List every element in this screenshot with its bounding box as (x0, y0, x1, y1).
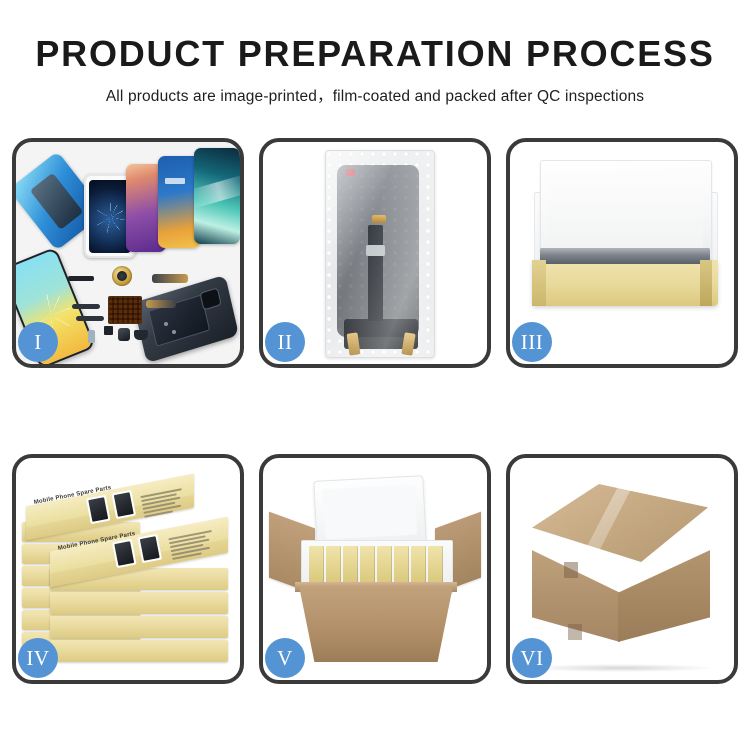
process-step-phone-screens-and-parts: I (12, 138, 244, 368)
process-step-carton-with-boxes: V (259, 454, 491, 684)
part-small-chip (104, 326, 113, 335)
retail-box-slot (428, 546, 443, 586)
spare-parts-cluster (68, 260, 196, 356)
part-screw-a (164, 322, 168, 326)
part-cable-a (72, 304, 100, 309)
box-print-screen-image (86, 495, 111, 524)
step-badge-6: VI (512, 638, 552, 678)
label-sticker (346, 169, 355, 176)
process-step-single-box-with-foam: III (506, 138, 738, 368)
carton-shadow (528, 664, 714, 672)
page-subtitle: All products are image-printed，film-coat… (0, 84, 750, 106)
flex-ribbon-cable (368, 225, 383, 321)
header: PRODUCT PREPARATION PROCESS All products… (0, 0, 750, 106)
step-badge-2: II (265, 322, 305, 362)
retail-box-slot (377, 546, 392, 586)
retail-box-side-left (532, 260, 546, 306)
stacked-box (50, 640, 228, 662)
retail-box-slot (394, 546, 409, 586)
carton-hand-hole-lower (568, 624, 582, 640)
retail-box-stack: Mobile Phone Spare Parts Mobile Phone Sp… (22, 472, 234, 670)
part-flex-cable-b (146, 300, 176, 308)
step-badge-1: I (18, 322, 58, 362)
part-camera-module (118, 328, 130, 341)
part-speaker (134, 330, 148, 340)
phone-screen-teal (194, 148, 240, 244)
step-badge-3: III (512, 322, 552, 362)
gold-contact-right (401, 332, 415, 355)
stacked-box (50, 616, 228, 638)
process-step-grid: I II (12, 138, 738, 684)
retail-box-slot (360, 546, 375, 586)
bubble-wrap-bag (325, 150, 435, 358)
part-flat-module (68, 276, 94, 281)
retail-box-slot (343, 546, 358, 586)
retail-box-yellow (532, 260, 718, 306)
part-screw-b (172, 330, 176, 334)
step-badge-4: IV (18, 638, 58, 678)
box-print-screen-image (112, 539, 137, 568)
process-step-bubble-wrapped-screen: II (259, 138, 491, 368)
retail-box-slot (411, 546, 426, 586)
carton-hand-hole-upper (564, 562, 578, 578)
foam-lid (313, 475, 426, 549)
part-cable-b (76, 316, 104, 321)
part-wireless-coil (112, 266, 132, 286)
flex-connector-top (372, 215, 386, 223)
retail-box-slot (309, 546, 324, 586)
carton-front-wall (299, 586, 453, 662)
part-chip-grid (108, 296, 142, 324)
retail-box-side-right (700, 260, 712, 306)
retail-boxes-inside (309, 546, 443, 586)
retail-box-slot (326, 546, 341, 586)
product-preparation-process-infographic: PRODUCT PREPARATION PROCESS All products… (0, 0, 750, 750)
step-badge-5: V (265, 638, 305, 678)
page-title: PRODUCT PREPARATION PROCESS (0, 35, 750, 73)
part-flex-cable-a (152, 274, 188, 283)
stacked-box (50, 592, 228, 614)
process-step-sealed-shipping-carton: VI (506, 454, 738, 684)
phone-screen-lineup (22, 148, 240, 256)
process-step-stacked-retail-boxes: Mobile Phone Spare Parts Mobile Phone Sp… (12, 454, 244, 684)
part-side-button (88, 330, 95, 343)
